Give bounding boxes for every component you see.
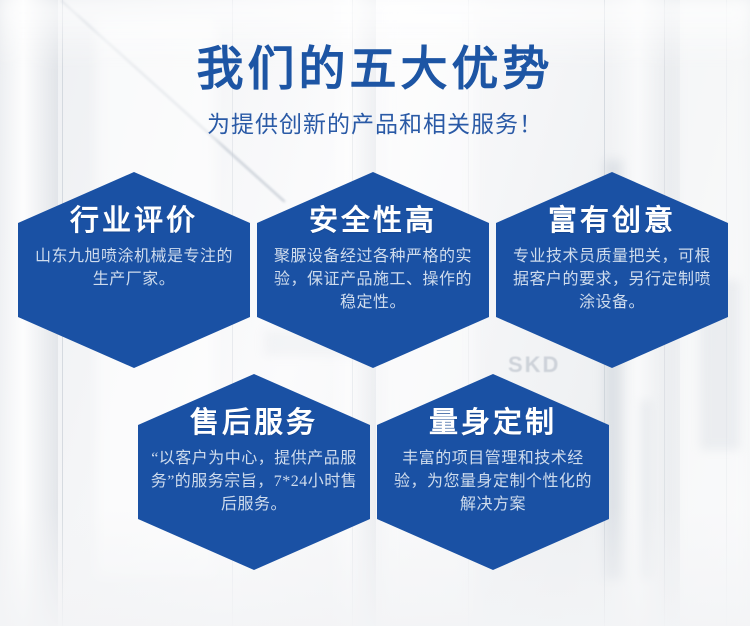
advantage-body: 丰富的项目管理和技术经验，为您量身定制个性化的解决方案 — [388, 447, 598, 516]
background-bottom-fade — [0, 506, 750, 626]
header: 我们的五大优势 为提供创新的产品和相关服务！ — [0, 42, 750, 140]
advantage-title: 安全性高 — [309, 204, 437, 238]
advantage-body: 聚脲设备经过各种严格的实验，保证产品施工、操作的稳定性。 — [271, 245, 475, 314]
page-subtitle: 为提供创新的产品和相关服务！ — [0, 110, 750, 140]
background-watermark: SKD — [508, 352, 560, 378]
advantage-title: 行业评价 — [70, 204, 198, 238]
advantage-body: 山东九旭喷涂机械是专注的生产厂家。 — [32, 245, 236, 291]
advantage-title: 富有创意 — [548, 204, 676, 238]
advantage-title: 量身定制 — [429, 406, 557, 440]
advantage-body: “以客户为中心，提供产品服务”的服务宗旨，7*24小时售后服务。 — [149, 447, 359, 516]
advantage-body: 专业技术员质量把关，可根据客户的要求，另行定制喷涂设备。 — [510, 245, 714, 314]
page-title: 我们的五大优势 — [0, 42, 750, 98]
advantage-title: 售后服务 — [190, 406, 318, 440]
promo-banner: SKD 我们的五大优势 为提供创新的产品和相关服务！ 行业评价 山东九旭喷涂机械… — [0, 0, 750, 626]
